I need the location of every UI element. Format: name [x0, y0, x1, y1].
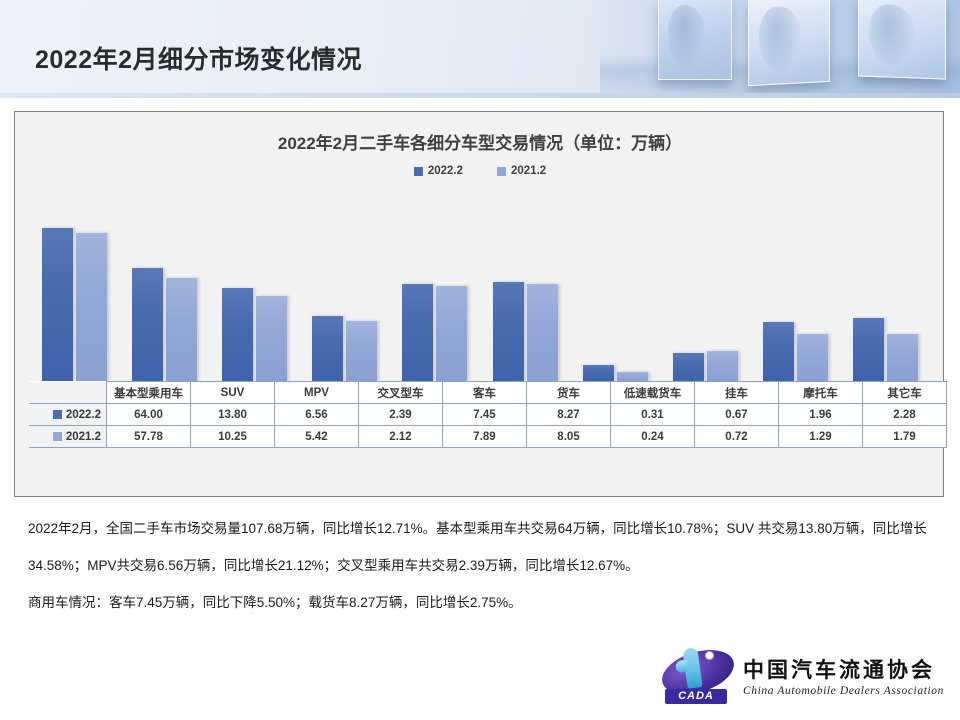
decorative-cube-3 [858, 0, 946, 80]
table-row-header: 2021.2 [29, 426, 107, 448]
page-title: 2022年2月细分市场变化情况 [35, 40, 362, 76]
bar-2022[interactable] [853, 318, 884, 381]
table-cell: 8.05 [527, 426, 611, 448]
table-cell: 2.12 [359, 426, 443, 448]
table-cell: 1.96 [779, 404, 863, 426]
table-cell: 5.42 [275, 426, 359, 448]
bar-group [480, 203, 570, 381]
bar-group [209, 203, 299, 381]
bar-2022[interactable] [583, 365, 614, 381]
bar-group [119, 203, 209, 381]
bar-2022[interactable] [493, 282, 524, 381]
table-row: 2022.264.0013.806.562.397.458.270.310.67… [29, 404, 947, 426]
table-column-header: MPV [275, 382, 359, 404]
chart-title: 2022年2月二手车各细分车型交易情况（单位：万辆） [15, 129, 945, 154]
bar-group [841, 203, 931, 381]
logo-name-en: China Automobile Dealers Association [743, 685, 944, 697]
bar-group [660, 203, 750, 381]
table-cell: 6.56 [275, 404, 359, 426]
globe-map-icon [759, 5, 803, 76]
table-cell: 13.80 [191, 404, 275, 426]
bar-2021[interactable] [256, 296, 287, 381]
slide-header-banner: 2022年2月细分市场变化情况 [0, 0, 960, 98]
series-swatch-icon [53, 410, 62, 419]
bar-group [300, 203, 390, 381]
table-cell: 10.25 [191, 426, 275, 448]
table-column-header: SUV [191, 382, 275, 404]
summary-paragraph-1: 2022年2月，全国二手车市场交易量107.68万辆，同比增长12.71%。基本… [28, 510, 934, 584]
table-header-row: 基本型乘用车SUVMPV交叉型车客车货车低速载货车挂车摩托车其它车 [29, 382, 947, 404]
logo-name-cn: 中国汽车流通协会 [743, 654, 944, 684]
bar-2022[interactable] [42, 228, 73, 381]
table-row: 2021.257.7810.255.422.127.898.050.240.72… [29, 426, 947, 448]
bar-2021[interactable] [617, 372, 648, 381]
logo-dot-shape [706, 652, 713, 659]
table-cell: 57.78 [107, 426, 191, 448]
table-corner-cell [29, 382, 107, 404]
bar-2022[interactable] [222, 288, 253, 381]
table-cell: 2.39 [359, 404, 443, 426]
series-swatch-icon [53, 432, 62, 441]
table-body: 2022.264.0013.806.562.397.458.270.310.67… [29, 404, 947, 448]
legend-label-2022: 2022.2 [428, 165, 463, 177]
bar-2022[interactable] [312, 316, 343, 381]
legend-swatch-2022 [414, 167, 423, 176]
table-cell: 7.45 [443, 404, 527, 426]
bar-2022[interactable] [673, 353, 704, 381]
globe-map-icon [869, 4, 916, 70]
chart-plot-area [29, 203, 931, 381]
table-column-header: 基本型乘用车 [107, 382, 191, 404]
series-label: 2021.2 [66, 431, 101, 443]
table-column-header: 挂车 [695, 382, 779, 404]
logo-abbreviation: CADA [665, 689, 727, 704]
header-baseline [0, 93, 960, 98]
table-column-header: 低速载货车 [611, 382, 695, 404]
bar-2021[interactable] [887, 334, 918, 381]
series-label: 2022.2 [66, 409, 101, 421]
decorative-cube-2 [748, 0, 830, 86]
legend-label-2021: 2021.2 [511, 165, 546, 177]
table-cell: 1.29 [779, 426, 863, 448]
bar-group [570, 203, 660, 381]
chart-legend: 2022.2 2021.2 [15, 165, 945, 177]
table-column-header: 其它车 [863, 382, 947, 404]
chart-data-table: 基本型乘用车SUVMPV交叉型车客车货车低速载货车挂车摩托车其它车 2022.2… [29, 381, 947, 448]
bar-group [29, 203, 119, 381]
bar-group [751, 203, 841, 381]
cada-logo: CADA 中国汽车流通协会 China Automobile Dealers A… [661, 646, 944, 704]
legend-item-2021[interactable]: 2021.2 [497, 165, 546, 177]
decorative-cube-1 [658, 0, 732, 80]
table-column-header: 摩托车 [779, 382, 863, 404]
table-column-header: 货车 [527, 382, 611, 404]
bar-2021[interactable] [436, 286, 467, 381]
table-cell: 0.31 [611, 404, 695, 426]
table-cell: 1.79 [863, 426, 947, 448]
chart-container: 2022年2月二手车各细分车型交易情况（单位：万辆） 2022.2 2021.2… [14, 111, 944, 497]
bar-2021[interactable] [797, 334, 828, 381]
table-cell: 0.24 [611, 426, 695, 448]
table-column-header: 交叉型车 [359, 382, 443, 404]
table-cell: 0.67 [695, 404, 779, 426]
table-row-header: 2022.2 [29, 404, 107, 426]
bar-2021[interactable] [76, 233, 107, 381]
bar-2022[interactable] [132, 268, 163, 381]
table-cell: 2.28 [863, 404, 947, 426]
legend-swatch-2021 [497, 167, 506, 176]
logo-text-block: 中国汽车流通协会 China Automobile Dealers Associ… [743, 654, 944, 697]
legend-item-2022[interactable]: 2022.2 [414, 165, 463, 177]
summary-paragraph-2: 商用车情况：客车7.45万辆，同比下降5.50%；载货车8.27万辆，同比增长2… [28, 584, 934, 621]
table-cell: 64.00 [107, 404, 191, 426]
bar-2021[interactable] [707, 351, 738, 381]
table-cell: 7.89 [443, 426, 527, 448]
table-column-header: 客车 [443, 382, 527, 404]
bar-2021[interactable] [527, 284, 558, 381]
bar-2021[interactable] [346, 321, 377, 381]
bar-group [390, 203, 480, 381]
table-cell: 8.27 [527, 404, 611, 426]
bar-2021[interactable] [166, 278, 197, 381]
bar-2022[interactable] [763, 322, 794, 381]
cada-logo-mark-icon: CADA [661, 646, 735, 704]
globe-map-icon [668, 5, 708, 71]
table-cell: 0.72 [695, 426, 779, 448]
summary-text: 2022年2月，全国二手车市场交易量107.68万辆，同比增长12.71%。基本… [28, 510, 934, 621]
bar-2022[interactable] [402, 284, 433, 381]
